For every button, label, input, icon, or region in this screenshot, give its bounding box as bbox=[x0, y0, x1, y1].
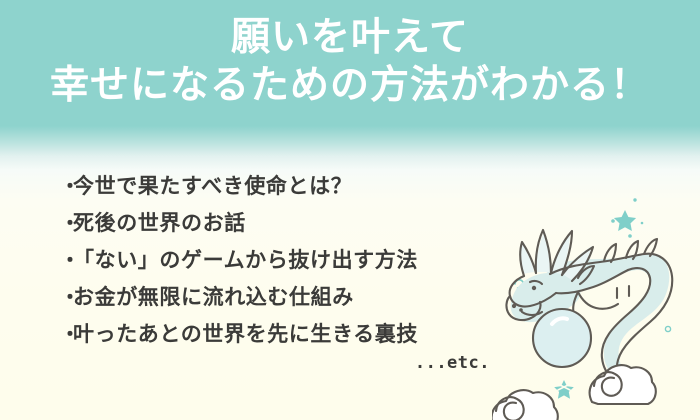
dragon-with-pearl-illustration bbox=[492, 188, 700, 420]
cloud-swirl-right bbox=[590, 365, 656, 404]
list-item: ・ 今世で果たすべき使命とは？ bbox=[60, 170, 490, 207]
list-item-label: 「ない」のゲームから抜け出す方法 bbox=[73, 244, 418, 274]
list-item: ・ お金が無限に流れ込む仕組み bbox=[60, 281, 490, 318]
list-item-label: 死後の世界のお話 bbox=[73, 207, 246, 237]
page-title-line-2: 幸せになるための方法がわかる！ bbox=[0, 62, 700, 109]
star-bottom-icon bbox=[554, 380, 574, 399]
bullet-marker-icon: ・ bbox=[60, 324, 73, 344]
bullet-marker-icon: ・ bbox=[60, 287, 73, 307]
bullet-marker-icon: ・ bbox=[60, 250, 73, 270]
pearl-orb bbox=[533, 309, 591, 367]
cloud-swirl-left bbox=[492, 390, 558, 420]
list-item-label: 今世で果たすべき使命とは？ bbox=[73, 170, 352, 200]
list-item-label: 叶ったあとの世界を先に生きる裏技 bbox=[73, 318, 418, 348]
bullet-marker-icon: ・ bbox=[60, 176, 73, 196]
star-top-icon bbox=[614, 210, 636, 231]
list-item: ・ 叶ったあとの世界を先に生きる裏技 bbox=[60, 318, 490, 355]
sparkle-ring-small-icon bbox=[665, 326, 670, 331]
list-item: ・ 死後の世界のお話 bbox=[60, 207, 490, 244]
list-item: ・ 「ない」のゲームから抜け出す方法 bbox=[60, 244, 490, 281]
bullet-marker-icon: ・ bbox=[60, 213, 73, 233]
slide-root: 願いを叶えて 幸せになるための方法がわかる！ ・ 今世で果たすべき使命とは？ ・… bbox=[0, 0, 700, 420]
header-band: 願いを叶えて 幸せになるための方法がわかる！ bbox=[0, 0, 700, 128]
etc-label: ...etc. bbox=[60, 353, 490, 373]
page-title-line-1: 願いを叶えて bbox=[0, 14, 700, 61]
list-item-label: お金が無限に流れ込む仕組み bbox=[73, 281, 354, 311]
bullet-list: ・ 今世で果たすべき使命とは？ ・ 死後の世界のお話 ・ 「ない」のゲームから抜… bbox=[60, 170, 490, 355]
